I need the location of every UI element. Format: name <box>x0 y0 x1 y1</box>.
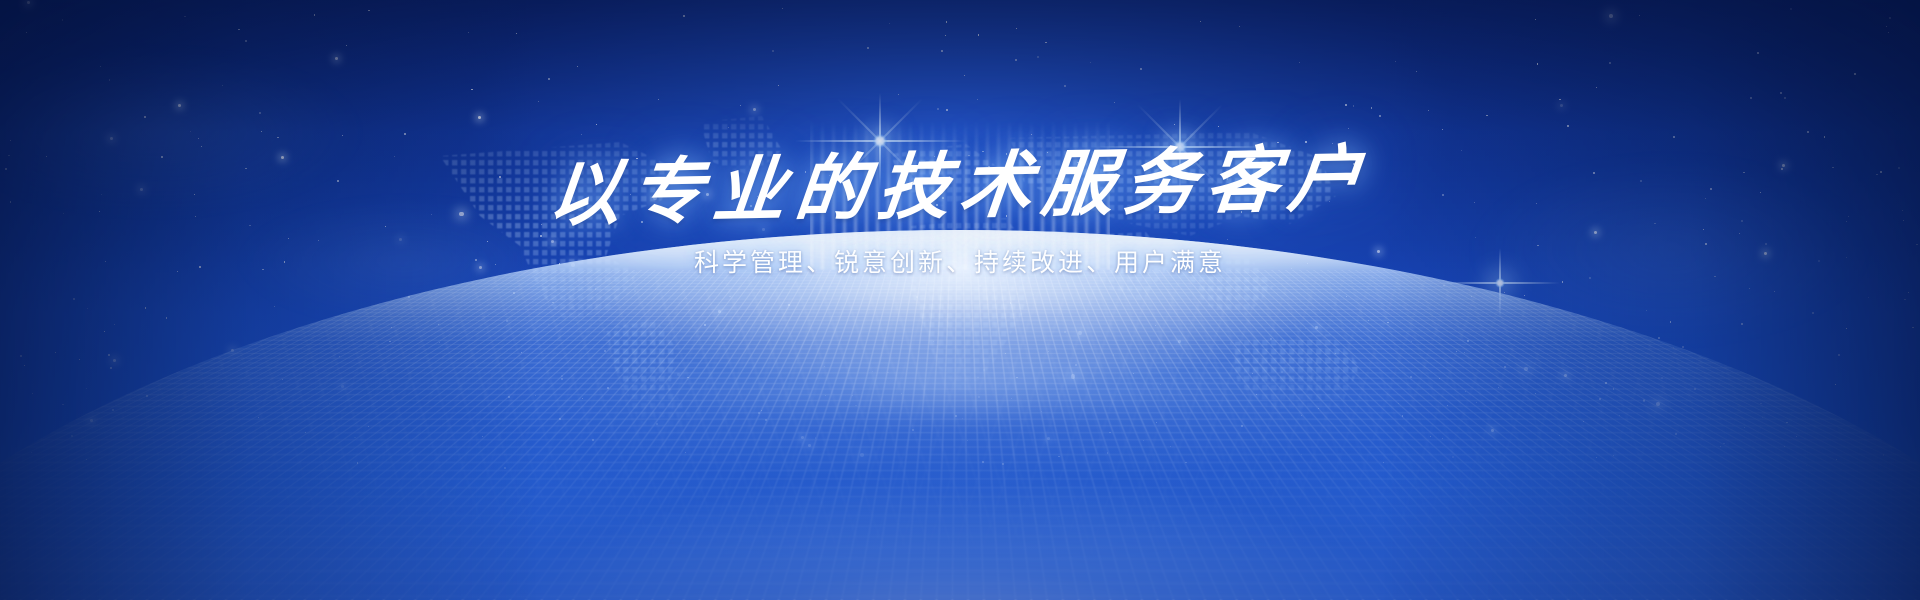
star <box>26 32 27 33</box>
star <box>977 99 978 100</box>
star <box>1045 42 1046 43</box>
star <box>728 127 729 128</box>
star <box>964 75 965 76</box>
star <box>190 131 191 132</box>
star <box>259 112 261 114</box>
star <box>778 85 779 86</box>
banner-subline: 科学管理、锐意创新、持续改进、用户满意 <box>0 246 1920 281</box>
star <box>1015 59 1017 61</box>
star <box>222 85 223 86</box>
star <box>335 57 338 60</box>
star <box>937 108 939 110</box>
star <box>782 8 783 9</box>
star <box>1140 68 1142 70</box>
star <box>368 10 369 11</box>
star <box>144 116 146 118</box>
star <box>1218 126 1219 127</box>
star <box>238 29 239 30</box>
star <box>1757 52 1759 54</box>
star <box>100 66 101 67</box>
star <box>1442 129 1443 130</box>
star <box>109 79 110 80</box>
star <box>1239 26 1240 27</box>
star <box>1379 115 1380 116</box>
star <box>1889 17 1891 19</box>
star <box>945 35 946 36</box>
star <box>346 45 347 46</box>
star <box>1114 102 1115 103</box>
star <box>1395 61 1396 62</box>
star <box>261 131 262 132</box>
star <box>1609 62 1611 64</box>
star <box>548 78 550 80</box>
star <box>1560 104 1563 107</box>
star <box>404 133 406 135</box>
star <box>471 89 472 90</box>
star <box>596 124 597 125</box>
star <box>201 146 202 147</box>
star <box>978 34 979 35</box>
star <box>1780 92 1782 94</box>
star <box>577 66 578 67</box>
star <box>1750 97 1752 99</box>
hero-banner: 以专业的技术服务客户 科学管理、锐意创新、持续改进、用户满意 <box>0 0 1920 600</box>
banner-copy: 以专业的技术服务客户 科学管理、锐意创新、持续改进、用户满意 <box>0 148 1920 281</box>
star <box>110 137 113 140</box>
star <box>658 99 659 100</box>
star <box>1353 105 1354 106</box>
star <box>1567 125 1569 127</box>
star <box>1535 19 1536 20</box>
star <box>1486 115 1487 116</box>
star <box>1016 28 1017 29</box>
star <box>27 1 30 4</box>
star <box>245 40 247 42</box>
star <box>10 140 11 141</box>
star <box>683 15 685 17</box>
star <box>1299 62 1300 63</box>
star <box>1537 63 1538 64</box>
star <box>178 104 181 107</box>
star <box>1888 32 1889 33</box>
star <box>1886 26 1887 27</box>
earth-horizon <box>0 230 1920 600</box>
star <box>946 109 948 111</box>
star <box>772 50 774 52</box>
star <box>62 19 63 20</box>
star <box>198 138 199 139</box>
star <box>1609 14 1613 18</box>
star <box>740 105 741 106</box>
star <box>1345 104 1347 106</box>
city-road-grid <box>0 276 1920 600</box>
star <box>184 16 185 17</box>
star <box>1596 87 1597 88</box>
star <box>516 33 517 34</box>
star <box>1200 21 1201 22</box>
star <box>1784 97 1786 99</box>
star <box>538 101 539 102</box>
star <box>342 135 343 136</box>
star <box>1416 71 1417 72</box>
star <box>1639 15 1640 16</box>
star <box>1428 110 1429 111</box>
star <box>898 94 899 95</box>
star <box>1064 85 1066 87</box>
star <box>581 134 582 135</box>
star <box>1090 62 1091 63</box>
star <box>946 21 947 22</box>
star <box>1348 128 1349 129</box>
star <box>753 108 756 111</box>
star <box>314 14 315 15</box>
star <box>1790 8 1792 10</box>
star <box>867 47 869 49</box>
star <box>1037 56 1039 58</box>
star <box>889 23 890 24</box>
star <box>1854 73 1856 75</box>
star <box>941 50 943 52</box>
star <box>277 137 278 138</box>
star <box>468 32 469 33</box>
star <box>1371 107 1372 108</box>
star <box>1559 99 1560 100</box>
star <box>1174 124 1175 125</box>
star <box>478 116 481 119</box>
